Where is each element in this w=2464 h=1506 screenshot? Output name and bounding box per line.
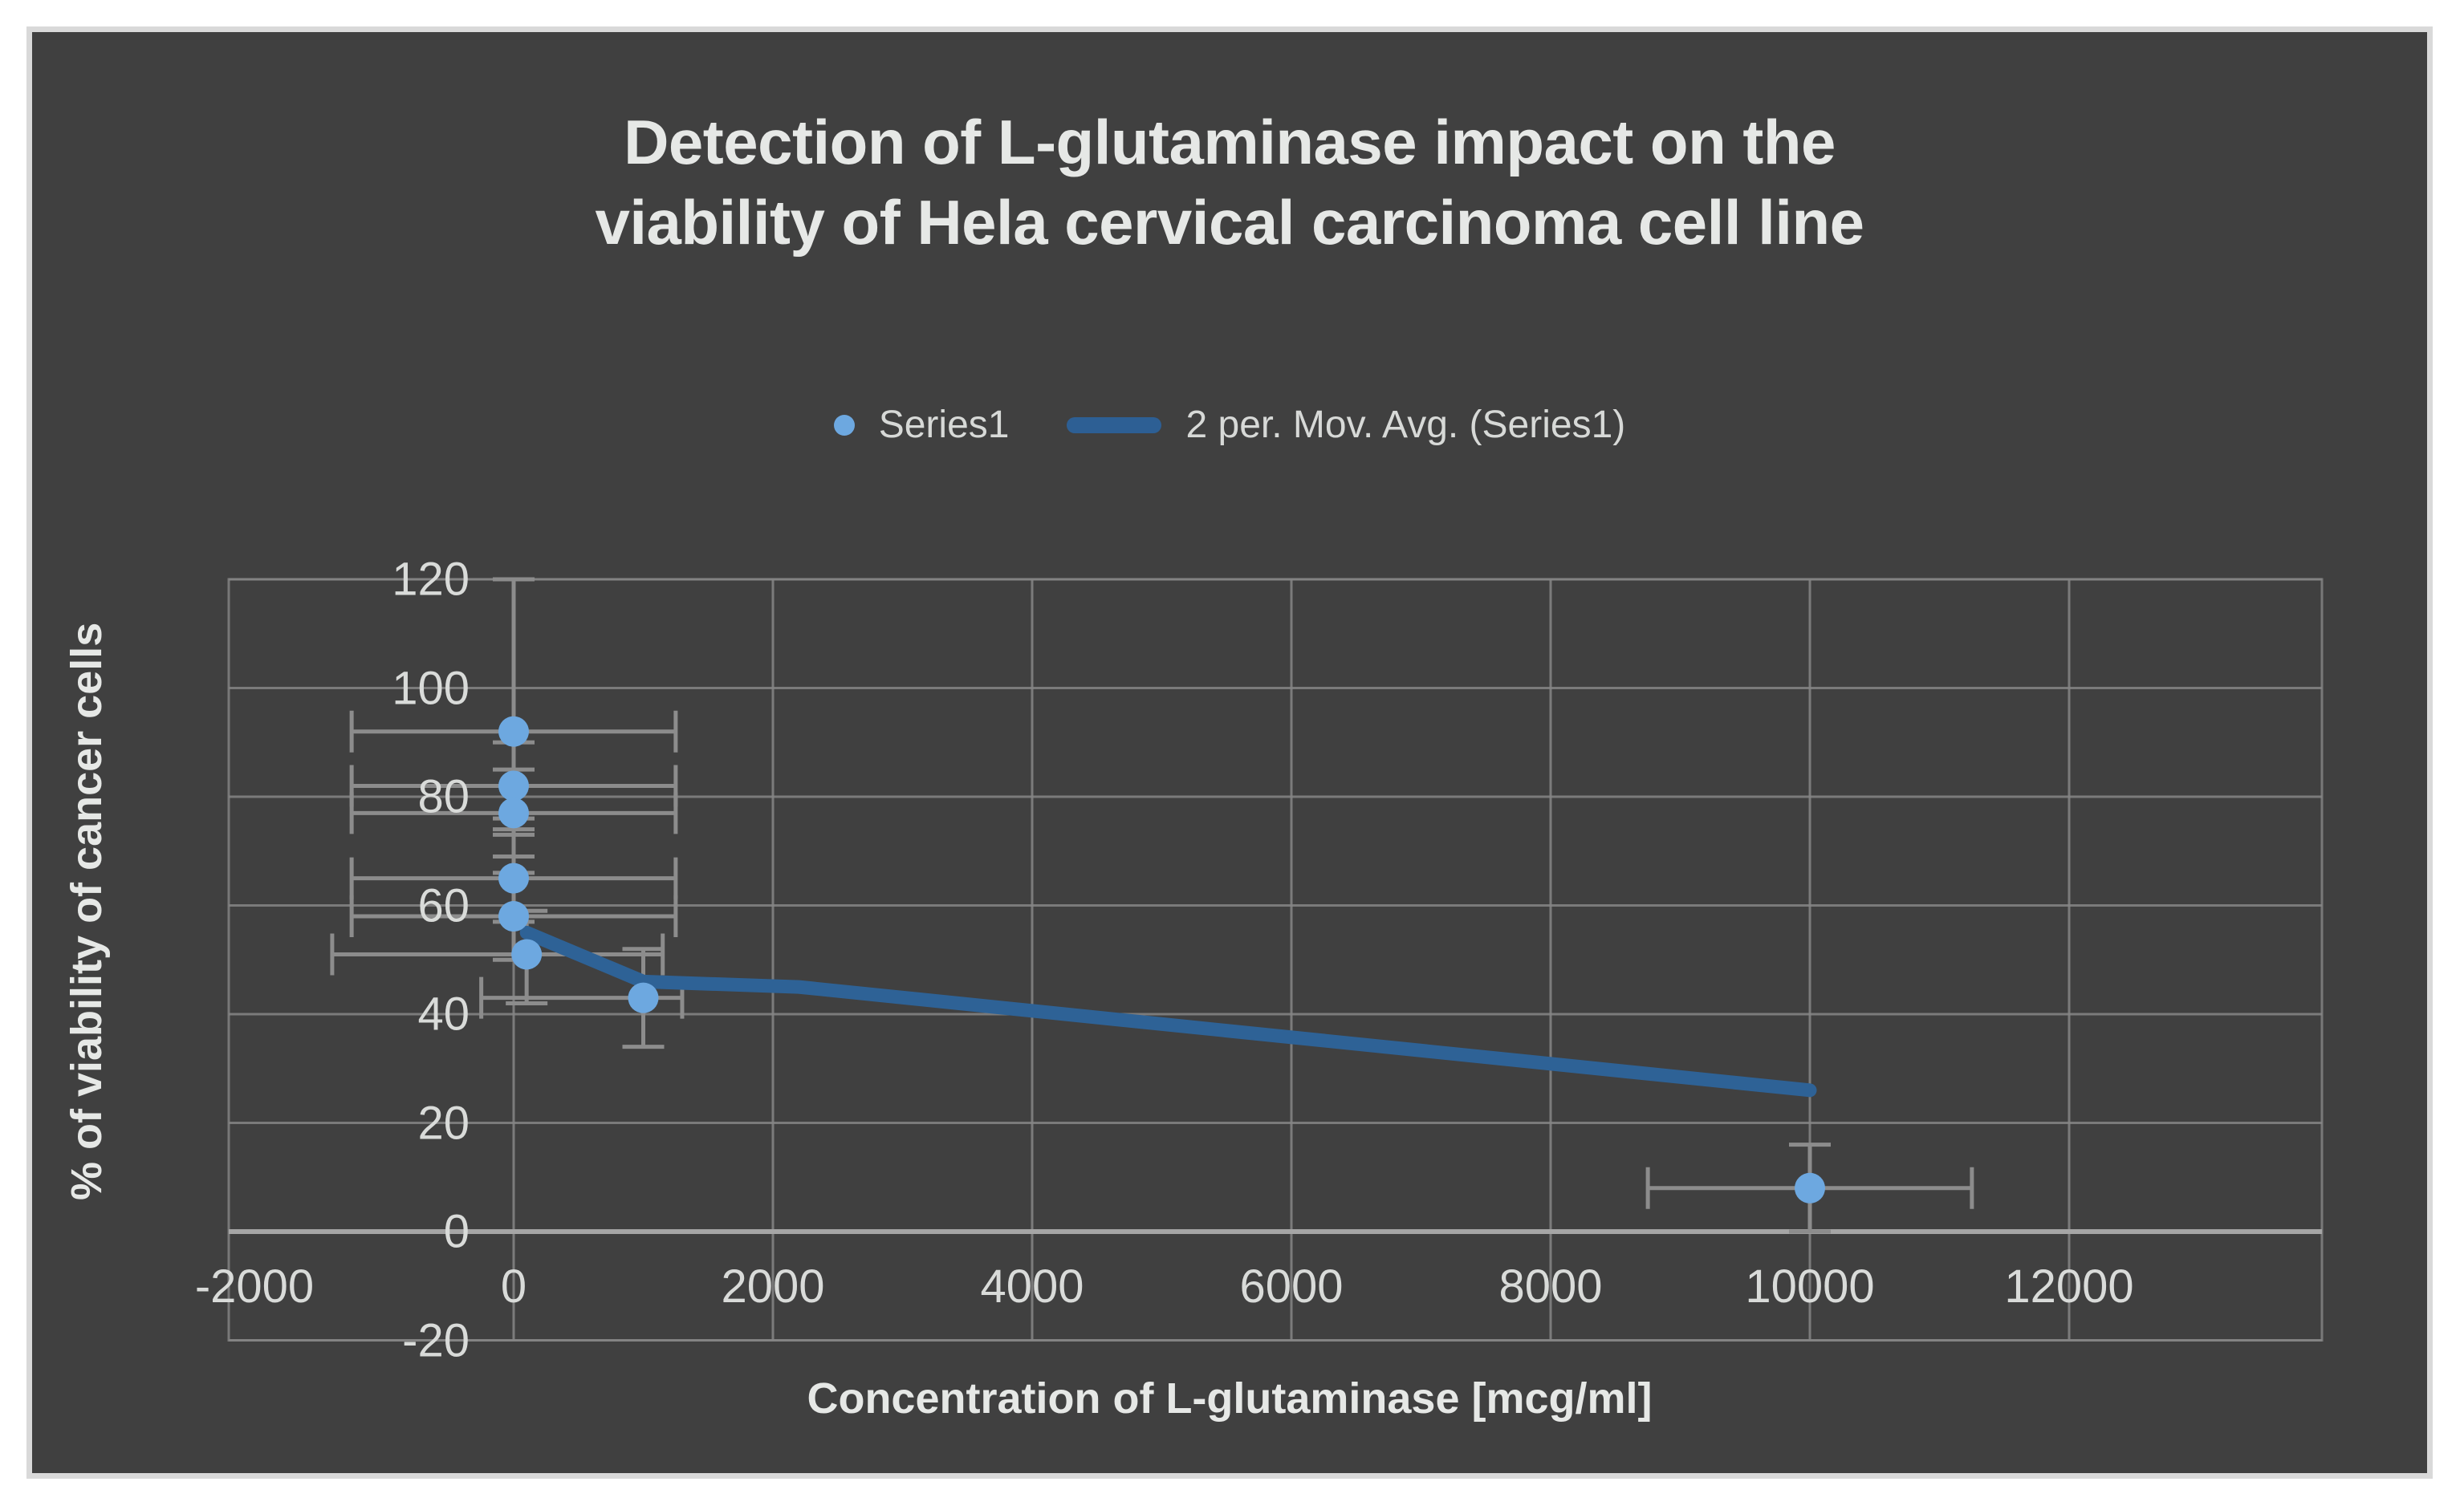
y-tick-label-120: 120 (285, 553, 470, 607)
y-tick-label-40: 40 (285, 988, 470, 1041)
y-tick-label-80: 80 (285, 770, 470, 824)
x-axis-title: Concentration of L-glutaminase [mcg/ml] (32, 1374, 2427, 1423)
data-point-marker[interactable] (498, 901, 529, 932)
x-tick-label-10000: 10000 (1745, 1260, 1874, 1313)
x-tick-label-6000: 6000 (1239, 1260, 1343, 1313)
x-tick-label-8000: 8000 (1498, 1260, 1602, 1313)
x-tick-label-0: 0 (501, 1260, 527, 1313)
moving-average-line (527, 932, 1810, 1090)
y-tick-label-100: 100 (285, 662, 470, 716)
data-point-marker[interactable] (498, 716, 529, 747)
data-point-marker[interactable] (511, 939, 542, 969)
y-tick-label-0: 0 (285, 1205, 470, 1259)
x-tick-label-12000: 12000 (2004, 1260, 2133, 1313)
data-point-marker[interactable] (498, 863, 529, 894)
y-tick-label-20: 20 (285, 1097, 470, 1151)
data-point-marker[interactable] (498, 798, 529, 828)
y-tick-label-60: 60 (285, 879, 470, 933)
data-point-marker[interactable] (1795, 1173, 1825, 1204)
y-axis-title: % of viability of cancer cells (62, 639, 112, 1200)
plot-border (229, 579, 2322, 1341)
x-tick-label-2000: 2000 (721, 1260, 824, 1313)
x-tick-label-neg2000: -2000 (195, 1260, 314, 1313)
data-point-marker[interactable] (628, 983, 659, 1013)
y-tick-label-neg20: -20 (285, 1314, 470, 1368)
x-tick-label-4000: 4000 (980, 1260, 1084, 1313)
data-point-marker[interactable] (498, 770, 529, 801)
plot-area: 120 100 80 60 40 20 0 -20 -2000 0 2000 4… (32, 32, 2427, 1473)
chart-frame: Detection of L-glutaminase impact on the… (26, 26, 2433, 1479)
